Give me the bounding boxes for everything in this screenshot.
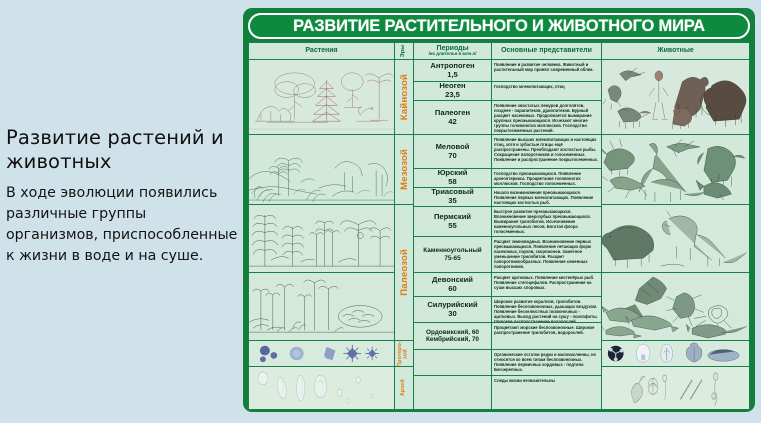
column-header-plants-label: Растения: [305, 47, 337, 54]
period-duration: 35: [448, 197, 456, 206]
era-label-proterozoic: Протеро-зой: [398, 341, 409, 366]
period-duration: 58: [448, 178, 456, 187]
body-paragraph: В ходе эволюции появились различные груп…: [6, 183, 238, 267]
poster-title: РАЗВИТИЕ РАСТИТЕЛЬНОГО И ЖИВОТНОГО МИРА: [293, 17, 705, 36]
representatives-cell-devonian: Расцвет щитковых. Появление кистепёрых р…: [492, 273, 601, 297]
animals-illustration-mesozoic: [602, 135, 749, 204]
column-header-period-sublabel: /их длительн в млн.л/: [429, 52, 477, 57]
representatives-cell-triassic: Начало возникновения пресмыкающихся. Поя…: [492, 188, 601, 207]
plants-illustration-proterozoic: [249, 341, 394, 366]
animals-illustration-proterozoic: [602, 341, 749, 366]
era-cell-archean: Архей: [395, 367, 413, 409]
era-cell-proterozoic: Протеро-зой: [395, 341, 413, 367]
plants-illustration-paleozoic-lower: [249, 273, 394, 340]
representatives-cell-anthropogene: Появление и развитие человека. Животный …: [492, 60, 601, 82]
animals-cell-mesozoic: [602, 135, 749, 205]
animals-cell-proterozoic: [602, 341, 749, 367]
representatives-cell-jurassic: Господство пресмыкающихся. Появление арх…: [492, 169, 601, 188]
period-cell-permian: Пермский 55: [414, 207, 491, 237]
period-cell-neogene: Неоген 23,5: [414, 82, 491, 101]
period-duration: 70: [448, 152, 456, 161]
plants-illustration-archean: [249, 367, 394, 409]
representatives-cell-ordovician-cambrian: Процветают морские беспозвоночные. Широк…: [492, 323, 601, 350]
period-duration: 1,5: [447, 71, 458, 80]
column-header-animals: Животные: [602, 43, 749, 59]
period-duration: Кембрийский, 70: [426, 336, 479, 343]
animals-illustration-paleozoic-upper: [602, 205, 749, 272]
period-cell-anthropogene: Антропоген 1,5: [414, 60, 491, 82]
period-duration: 55: [448, 222, 456, 231]
representatives-cell-paleogene: Появление хвостатых лемуров долгопятов, …: [492, 101, 601, 135]
column-header-plants: Растения: [249, 43, 395, 59]
plants-illustration-cenozoic: [249, 60, 394, 134]
animals-illustration-archean: [602, 367, 749, 409]
slide-canvas: Развитие растений и животных В ходе эвол…: [0, 0, 761, 423]
era-label-paleozoic: Палеозой: [399, 249, 410, 296]
era-label-archean: Архей: [401, 379, 407, 396]
representatives-cell-silurian: Широкое развитие кораллов, трилобитов. П…: [492, 297, 601, 323]
column-header-main-label: Основные представители: [501, 47, 592, 54]
animals-cell-archean: [602, 367, 749, 409]
representatives-cell-proterozoic: Органические остатки редки и малочисленн…: [492, 350, 601, 376]
period-duration: 30: [448, 310, 456, 319]
plants-cell-proterozoic: [249, 341, 394, 367]
poster-inner: РАЗВИТИЕ РАСТИТЕЛЬНОГО И ЖИВОТНОГО МИРА …: [248, 13, 750, 407]
representatives-cell-carboniferous: Расцвет земноводных. Возникновение первы…: [492, 237, 601, 273]
period-cell-silurian: Силурийский 30: [414, 297, 491, 323]
representatives-column: Появление и развитие человека. Животный …: [492, 60, 602, 409]
plants-illustration-paleozoic-upper: [249, 205, 394, 272]
evolution-table: Растения Эры Периоды /их длительн в млн.…: [248, 42, 750, 410]
era-cell-paleozoic: Палеозой: [395, 205, 413, 341]
animals-column: [602, 60, 749, 409]
poster-title-bar: РАЗВИТИЕ РАСТИТЕЛЬНОГО И ЖИВОТНОГО МИРА: [248, 13, 750, 39]
table-header-row: Растения Эры Периоды /их длительн в млн.…: [249, 43, 749, 60]
animals-cell-paleozoic-upper: [602, 205, 749, 273]
poster-frame: РАЗВИТИЕ РАСТИТЕЛЬНОГО И ЖИВОТНОГО МИРА …: [243, 8, 755, 412]
column-header-main: Основные представители: [492, 43, 602, 59]
era-cell-mesozoic: Мезозой: [395, 135, 413, 205]
period-cell-paleogene: Палеоген 42: [414, 101, 491, 135]
period-column: Антропоген 1,5 Неоген 23,5 Палеоген 42: [414, 60, 492, 409]
plants-cell-archean: [249, 367, 394, 409]
plants-cell-cenozoic: [249, 60, 394, 135]
period-cell-proterozoic-blank: [414, 350, 491, 376]
animals-cell-cenozoic: [602, 60, 749, 135]
era-label-cenozoic: Кайнозой: [399, 74, 410, 120]
representatives-cell-neogene: Господство млекопитающих, птиц: [492, 82, 601, 101]
column-header-animals-label: Животные: [657, 47, 693, 54]
plants-column: [249, 60, 395, 409]
period-duration: 23,5: [445, 91, 460, 100]
period-cell-triassic: Триасовый 35: [414, 188, 491, 207]
representatives-cell-archean: Следы жизни незначительны: [492, 376, 601, 409]
left-text-pane: Развитие растений и животных В ходе эвол…: [6, 126, 238, 267]
period-cell-archean-blank: [414, 376, 491, 409]
plants-cell-mesozoic: [249, 135, 394, 205]
period-cell-cretaceous: Меловой 70: [414, 135, 491, 169]
plants-illustration-mesozoic: [249, 135, 394, 204]
page-title: Развитие растений и животных: [6, 126, 238, 174]
period-cell-carboniferous: Каменноугольный 75-65: [414, 237, 491, 273]
column-header-period: Периоды /их длительн в млн.л/: [414, 43, 492, 59]
period-duration: 75-65: [444, 255, 460, 262]
column-header-era-label: Эры: [401, 45, 407, 57]
page-body-text: В ходе эволюции появились различные груп…: [6, 183, 238, 267]
animals-illustration-paleozoic-lower: [602, 273, 749, 340]
period-name: Ордовикский, 60: [426, 329, 479, 336]
period-duration: 42: [448, 118, 456, 127]
period-name: Каменноугольный: [423, 247, 481, 254]
representatives-cell-cretaceous: Появление высших млекопитающих и настоящ…: [492, 135, 601, 169]
era-column: Кайнозой Мезозой Палеозой Протеро-зой Ар: [395, 60, 414, 409]
period-duration: 60: [448, 285, 456, 294]
animals-illustration-cenozoic: [602, 60, 749, 134]
table-body: Кайнозой Мезозой Палеозой Протеро-зой Ар: [249, 60, 749, 409]
period-cell-devonian: Девонский 60: [414, 273, 491, 297]
period-cell-ordovician-cambrian: Ордовикский, 60 Кембрийский, 70: [414, 323, 491, 350]
plants-cell-paleozoic-upper: [249, 205, 394, 273]
era-label-mesozoic: Мезозой: [399, 149, 410, 190]
plants-cell-paleozoic-lower: [249, 273, 394, 341]
animals-cell-paleozoic-lower: [602, 273, 749, 341]
period-cell-jurassic: Юрский 58: [414, 169, 491, 188]
column-header-era: Эры: [395, 43, 414, 59]
era-cell-cenozoic: Кайнозой: [395, 60, 413, 135]
representatives-cell-permian: Быстрое развитие пресмыкающихся. Возникн…: [492, 207, 601, 237]
